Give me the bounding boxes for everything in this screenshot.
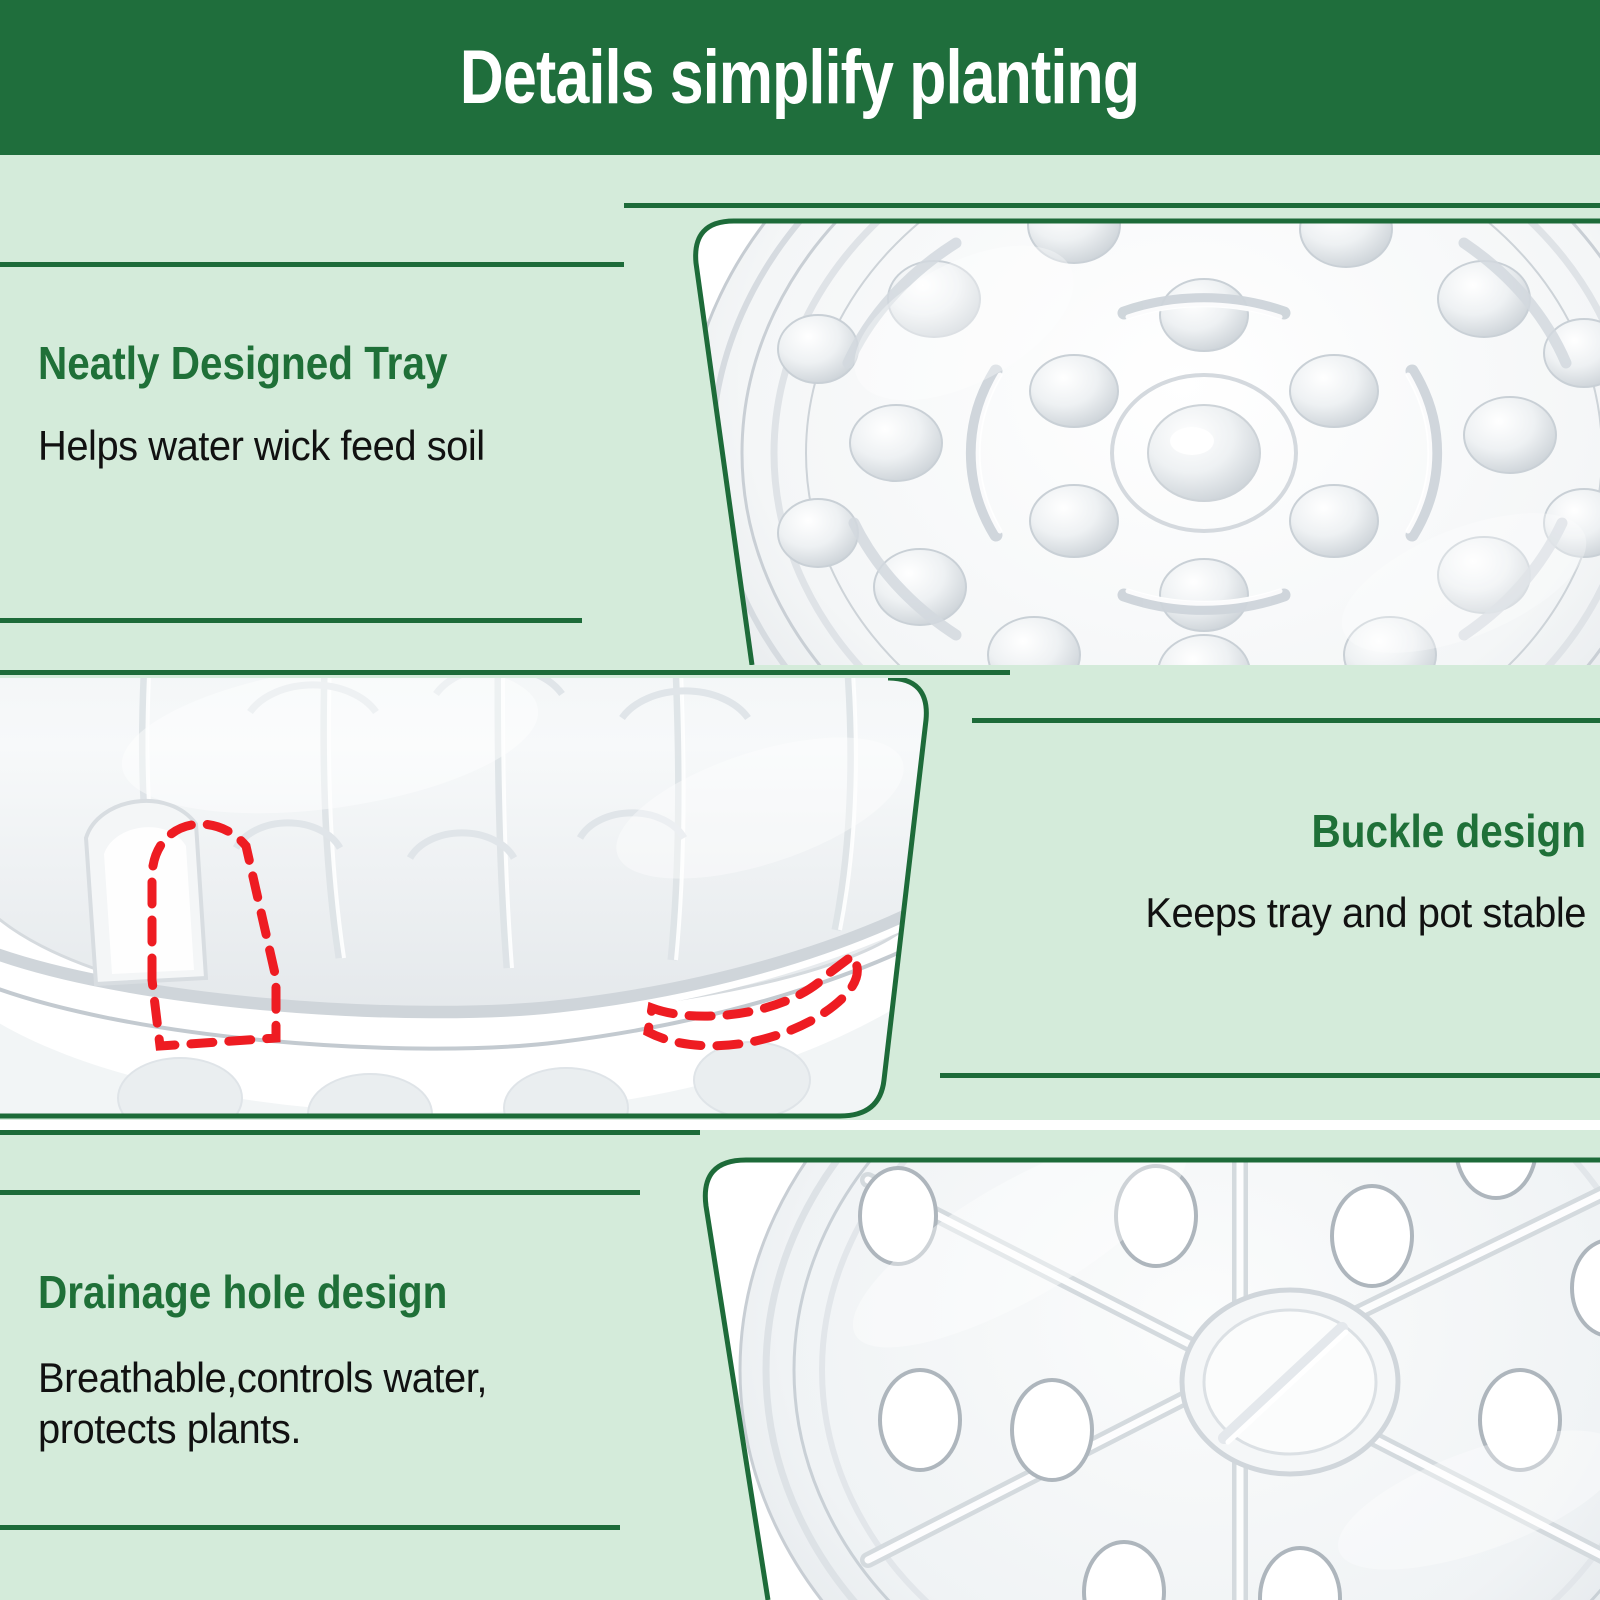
feature-card-drainage-hole-design: Drainage hole design Breathable,controls… [0, 1120, 1600, 1600]
feature-2-heading: Buckle design [970, 807, 1586, 855]
page-title: Details simplify planting [460, 40, 1139, 116]
photo-panel-3 [600, 1120, 1600, 1600]
feature-card-buckle-design: Buckle design Keeps tray and pot stable [0, 665, 1600, 1120]
card2-rule-bottom [940, 1073, 1600, 1078]
feature-card-neatly-designed-tray: Neatly Designed Tray Helps water wick fe… [0, 155, 1600, 665]
card3-rule-top [0, 1130, 700, 1135]
feature-3-heading: Drainage hole design [38, 1268, 584, 1316]
feature-1-subtext: Helps water wick feed soil [38, 420, 608, 471]
feature-1-heading: Neatly Designed Tray [38, 339, 531, 387]
card3-rule-second [0, 1190, 640, 1195]
feature-2-subtext: Keeps tray and pot stable [864, 887, 1586, 938]
card1-rule-top [0, 262, 624, 267]
photo1-top-border [624, 203, 1600, 208]
feature-3-subtext-line-2: protects plants. [38, 1403, 646, 1454]
photo-panel-1 [604, 203, 1600, 665]
infographic-page: Details simplify planting [0, 0, 1600, 1600]
card1-rule-bottom [0, 618, 582, 623]
photo2-top-border [0, 670, 1010, 675]
card2-rule-top [972, 718, 1600, 723]
header-banner: Details simplify planting [0, 0, 1600, 155]
feature-3-subtext-line-1: Breathable,controls water, [38, 1352, 646, 1403]
card3-rule-bottom [0, 1525, 620, 1530]
